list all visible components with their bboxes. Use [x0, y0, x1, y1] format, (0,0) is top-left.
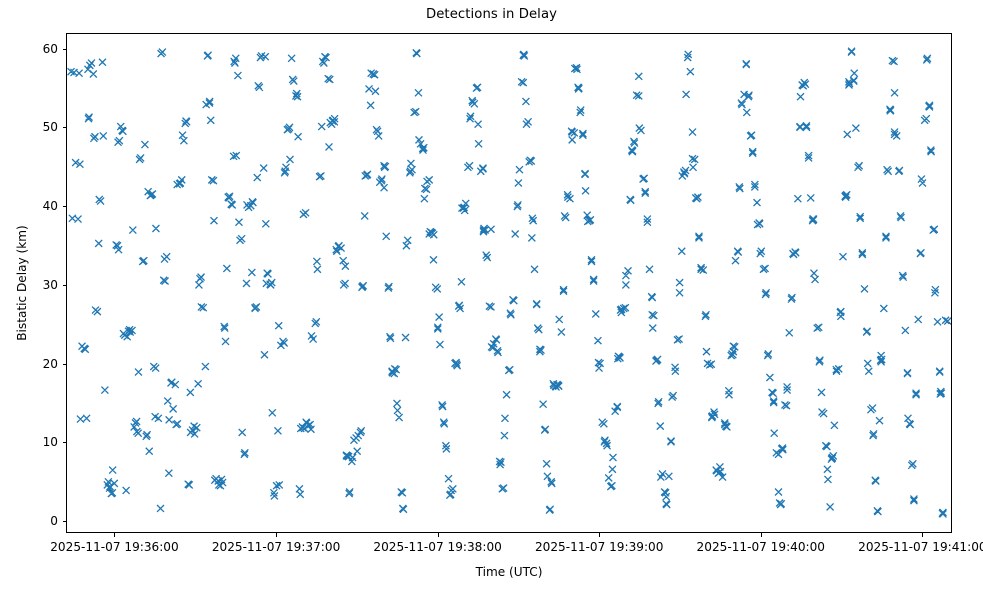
y-tick-label: 0	[18, 514, 58, 528]
x-tick-label: 2025-11-07 19:38:00	[373, 540, 501, 554]
y-tick-mark	[63, 206, 67, 207]
y-tick-label: 20	[18, 357, 58, 371]
x-tick-mark	[599, 533, 600, 537]
x-tick-mark	[114, 533, 115, 537]
y-tick-mark	[63, 127, 67, 128]
plot-axes-area	[66, 33, 952, 533]
y-tick-label: 30	[18, 278, 58, 292]
matplotlib-figure: Detections in Delay Bistatic Delay (km) …	[0, 0, 983, 590]
x-tick-mark	[276, 533, 277, 537]
x-tick-mark	[922, 533, 923, 537]
x-tick-label: 2025-11-07 19:40:00	[697, 540, 825, 554]
x-axis-label: Time (UTC)	[66, 565, 952, 579]
x-tick-label: 2025-11-07 19:39:00	[535, 540, 663, 554]
x-tick-mark	[438, 533, 439, 537]
y-tick-label: 40	[18, 199, 58, 213]
y-tick-label: 10	[18, 435, 58, 449]
x-tick-label: 2025-11-07 19:36:00	[50, 540, 178, 554]
y-tick-mark	[63, 442, 67, 443]
y-tick-label: 50	[18, 120, 58, 134]
x-tick-label: 2025-11-07 19:41:00	[858, 540, 983, 554]
chart-title: Detections in Delay	[0, 7, 983, 22]
y-tick-mark	[63, 521, 67, 522]
y-tick-mark	[63, 364, 67, 365]
x-tick-label: 2025-11-07 19:37:00	[212, 540, 340, 554]
x-tick-mark	[761, 533, 762, 537]
y-tick-mark	[63, 49, 67, 50]
y-tick-mark	[63, 285, 67, 286]
y-tick-label: 60	[18, 42, 58, 56]
scatter-points-layer	[67, 34, 951, 532]
